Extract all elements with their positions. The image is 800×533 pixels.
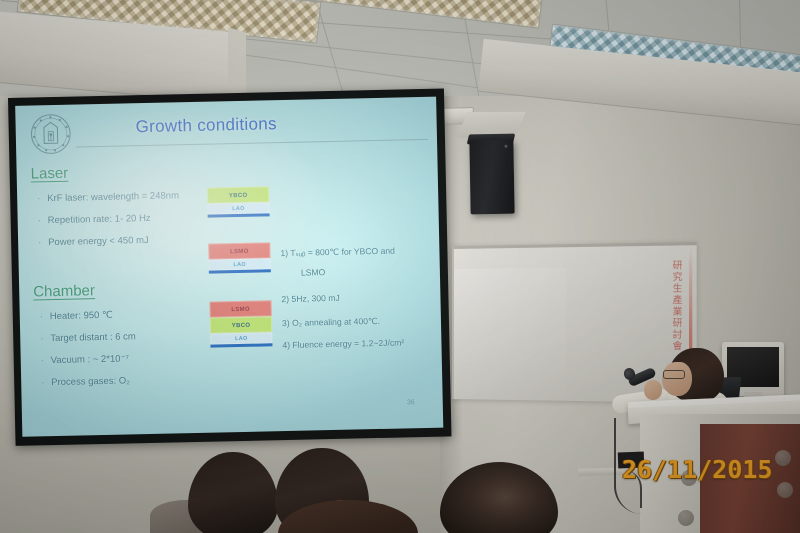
podium-knob [678, 510, 694, 526]
layer-ybco: YBCO [207, 186, 269, 203]
bullet-dot: · [37, 193, 47, 204]
note-3: 3) O₂ annealing at 400℃. [282, 316, 380, 329]
podium-knob [777, 482, 793, 498]
title-divider [76, 139, 428, 148]
presentation-slide: Growth conditions Laser ·KrF laser: wave… [15, 97, 443, 437]
whiteboard-writing: 研究生產業研討會 [670, 260, 683, 352]
bullet-chamber-2: ·Target distant : 6 cm [40, 331, 136, 344]
note-1b: LSMO [301, 267, 326, 278]
bullet-chamber-4: ·Process gases: O₂ [41, 375, 130, 388]
slide-number: 36 [407, 399, 415, 406]
presenter-hand [644, 380, 662, 400]
bullet-dot: · [41, 355, 51, 366]
layer-lsmo: LSMO [208, 242, 270, 259]
bullet-chamber-1: ·Heater: 950 ℃ [40, 310, 113, 323]
slide-title: Growth conditions [135, 114, 277, 137]
bullet-laser-3: ·Power energy < 450 mJ [38, 235, 149, 248]
section-heading-laser: Laser [30, 165, 68, 183]
section-heading-chamber: Chamber [33, 282, 95, 300]
whiteboard-glare [452, 268, 566, 403]
podium-knob [775, 450, 791, 466]
stack-ybco-lao: YBCO LAO [207, 186, 270, 217]
wall-speaker [469, 140, 514, 215]
glasses-icon [663, 370, 685, 379]
projection-screen: Growth conditions Laser ·KrF laser: wave… [8, 88, 451, 445]
stack-lsmo-ybco-lao: LSMO YBCO LAO [209, 300, 272, 347]
stack-lsmo-lao: LSMO LAO [208, 242, 271, 273]
layer-lsmo: LSMO [209, 300, 271, 317]
university-seal-logo [29, 113, 72, 156]
camera-datestamp: 26/11/2015 [622, 455, 773, 484]
bullet-dot: · [41, 377, 51, 388]
bullet-dot: · [40, 311, 50, 322]
note-1: 1) Tₛᵤᵦ = 800℃ for YBCO and [280, 246, 395, 259]
bullet-dot: · [38, 215, 48, 226]
speaker-indicator [504, 145, 507, 148]
bullet-dot: · [40, 333, 50, 344]
bullet-laser-2: ·Repetition rate: 1- 20 Hz [38, 213, 151, 226]
lecture-hall-photo: 富家光學 [0, 0, 800, 533]
bullet-dot: · [38, 237, 48, 248]
bullet-chamber-3: ·Vacuum : ~ 2*10⁻⁷ [41, 353, 129, 366]
note-2: 2) 5Hz, 300 mJ [281, 293, 339, 304]
note-4: 4) Fluence energy = 1.2~2J/cm² [282, 337, 404, 350]
bullet-laser-1: ·KrF laser: wavelength = 248nm [37, 190, 179, 204]
layer-ybco: YBCO [210, 316, 272, 333]
